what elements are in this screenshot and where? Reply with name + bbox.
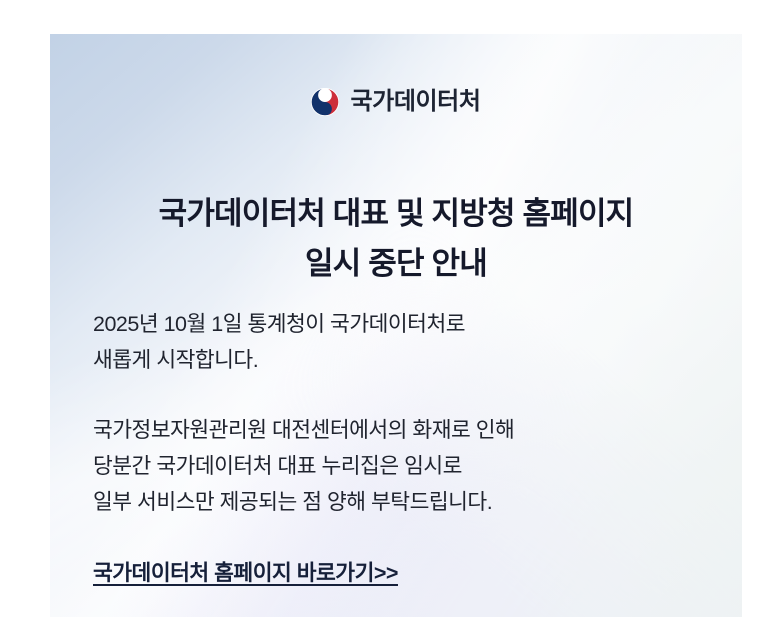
paragraph-line: 일부 서비스만 제공되는 점 양해 부탁드립니다. bbox=[93, 484, 713, 520]
notice-content: 국가데이터처 국가데이터처 대표 및 지방청 홈페이지 일시 중단 안내 202… bbox=[50, 34, 742, 617]
paragraph-line: 국가정보자원관리원 대전센터에서의 화재로 인해 bbox=[93, 412, 713, 448]
paragraph-line: 당분간 국가데이터처 대표 누리집은 임시로 bbox=[93, 448, 713, 484]
notice-paragraph-1: 2025년 10월 1일 통계청이 국가데이터처로 새롭게 시작합니다. bbox=[93, 306, 713, 378]
notice-panel: 국가데이터처 국가데이터처 대표 및 지방청 홈페이지 일시 중단 안내 202… bbox=[50, 34, 742, 617]
taegeuk-icon bbox=[311, 88, 339, 116]
notice-paragraph-2: 국가정보자원관리원 대전센터에서의 화재로 인해 당분간 국가데이터처 대표 누… bbox=[93, 412, 713, 520]
paragraph-line: 새롭게 시작합니다. bbox=[93, 342, 713, 378]
page-title-line-2: 일시 중단 안내 bbox=[50, 239, 742, 289]
page-title-line-1: 국가데이터처 대표 및 지방청 홈페이지 bbox=[50, 189, 742, 239]
page-title: 국가데이터처 대표 및 지방청 홈페이지 일시 중단 안내 bbox=[50, 189, 742, 289]
agency-logo: 국가데이터처 bbox=[50, 88, 742, 116]
homepage-link-row: 국가데이터처 홈페이지 바로가기>> bbox=[93, 558, 398, 588]
paragraph-line: 2025년 10월 1일 통계청이 국가데이터처로 bbox=[93, 306, 713, 342]
homepage-link[interactable]: 국가데이터처 홈페이지 바로가기>> bbox=[93, 558, 398, 588]
agency-logo-text: 국가데이터처 bbox=[350, 90, 480, 114]
screenshot-root: 국가데이터처 국가데이터처 대표 및 지방청 홈페이지 일시 중단 안내 202… bbox=[0, 0, 784, 617]
